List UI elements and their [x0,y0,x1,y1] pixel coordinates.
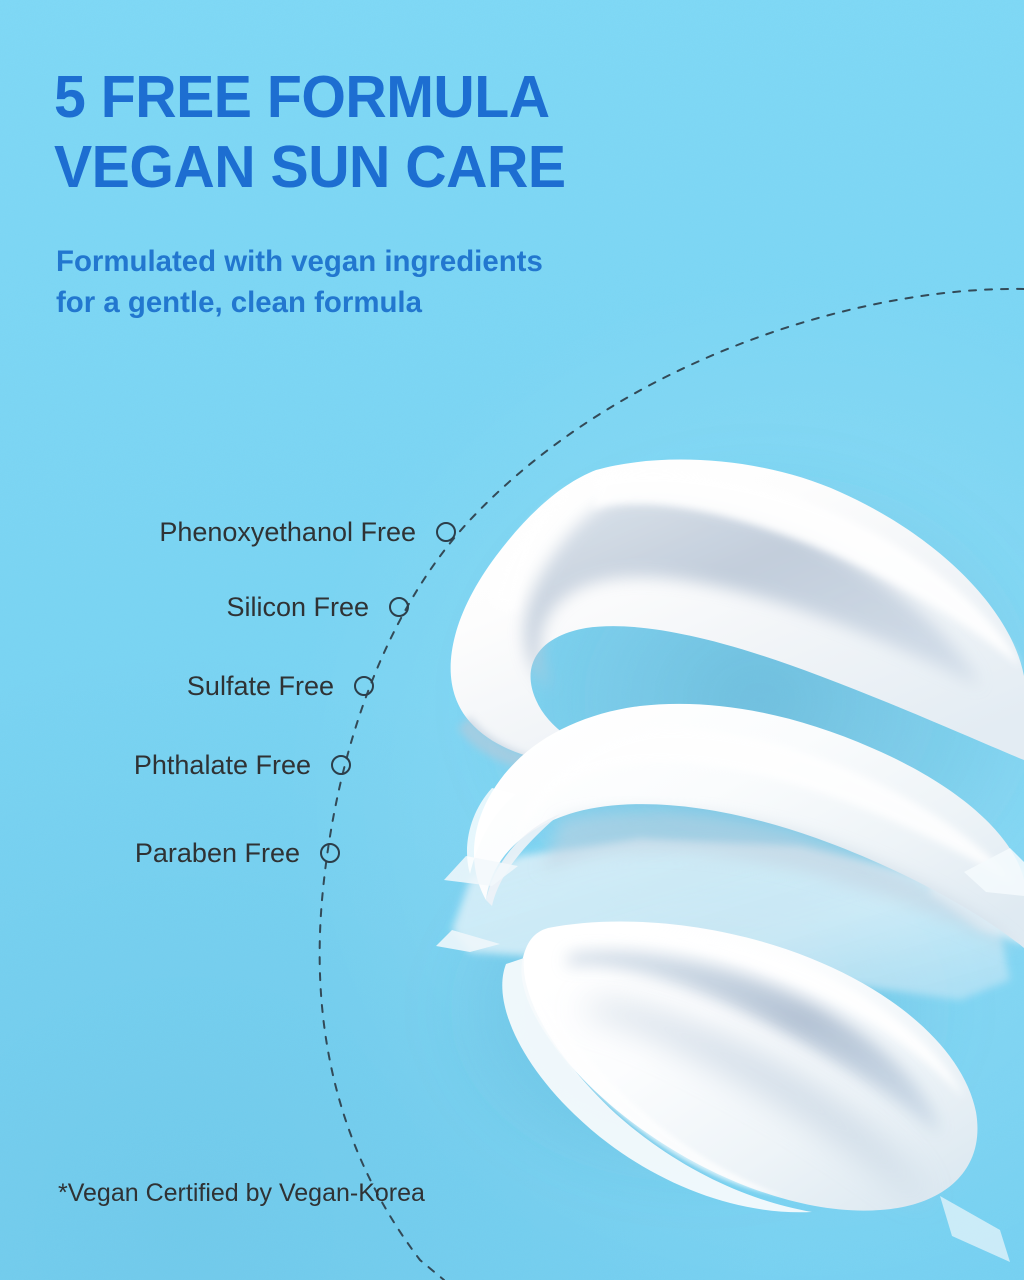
page-title: 5 FREE FORMULA VEGAN SUN CARE [54,62,814,202]
claim-connector-dot [332,756,350,774]
claim-connector-dot [355,677,373,695]
arc-dot-group [321,523,455,862]
claim-connector-dot [437,523,455,541]
claim-label: Paraben Free [135,838,300,868]
dashed-arc-line [320,289,1024,1280]
claim-connector-dot [390,598,408,616]
claim-label: Phthalate Free [134,750,311,780]
headline-line-1: 5 FREE FORMULA [54,62,791,132]
claim-label: Silicon Free [226,592,369,622]
headline-line-2: VEGAN SUN CARE [54,132,791,202]
vegan-certification-footnote: *Vegan Certified by Vegan-Korea [58,1178,425,1208]
claim-label: Sulfate Free [187,671,334,701]
subtitle-line-1: Formulated with vegan ingredients [56,241,683,282]
subtitle: Formulated with vegan ingredients for a … [56,241,696,323]
claim-label: Phenoxyethanol Free [159,517,416,547]
promo-graphic: 5 FREE FORMULA VEGAN SUN CARE Formulated… [0,0,1024,1280]
subtitle-line-2: for a gentle, clean formula [56,282,683,323]
claim-connector-dot [321,844,339,862]
